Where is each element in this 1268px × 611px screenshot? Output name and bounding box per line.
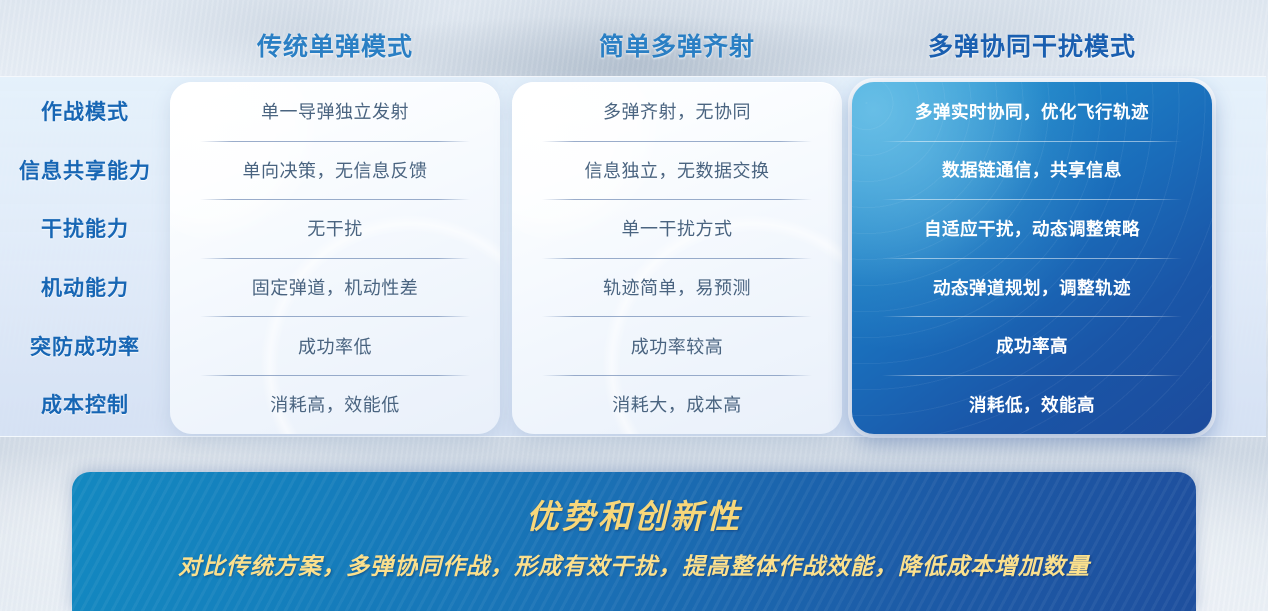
- row-label-info-sharing: 信息共享能力: [0, 141, 170, 200]
- cell-traditional-penetration: 成功率低: [170, 316, 500, 375]
- cell-cooperative-maneuverability: 动态弹道规划，调整轨迹: [852, 258, 1212, 317]
- comparison-card-traditional[interactable]: 单一导弹独立发射 单向决策，无信息反馈 无干扰 固定弹道，机动性差 成功率低 消…: [170, 82, 500, 434]
- cell-traditional-jamming: 无干扰: [170, 199, 500, 258]
- cell-cooperative-cost: 消耗低，效能高: [852, 375, 1212, 434]
- row-label-jamming-capability: 干扰能力: [0, 199, 170, 258]
- cell-traditional-cost: 消耗高，效能低: [170, 375, 500, 434]
- card-cell-list: 多弹实时协同，优化飞行轨迹 数据链通信，共享信息 自适应干扰，动态调整策略 动态…: [852, 82, 1212, 434]
- cell-salvo-jamming: 单一干扰方式: [512, 199, 842, 258]
- column-header-cooperative-jamming: 多弹协同干扰模式: [852, 30, 1212, 64]
- cell-cooperative-jamming: 自适应干扰，动态调整策略: [852, 199, 1212, 258]
- cell-traditional-info-sharing: 单向决策，无信息反馈: [170, 141, 500, 200]
- row-label-penetration-rate: 突防成功率: [0, 316, 170, 375]
- cell-cooperative-info-sharing: 数据链通信，共享信息: [852, 141, 1212, 200]
- comparison-card-simple-salvo[interactable]: 多弹齐射，无协同 信息独立，无数据交换 单一干扰方式 轨迹简单，易预测 成功率较…: [512, 82, 842, 434]
- card-cell-list: 单一导弹独立发射 单向决策，无信息反馈 无干扰 固定弹道，机动性差 成功率低 消…: [170, 82, 500, 434]
- row-label-maneuverability: 机动能力: [0, 258, 170, 317]
- cell-salvo-cost: 消耗大，成本高: [512, 375, 842, 434]
- banner-title: 优势和创新性: [72, 490, 1196, 538]
- cell-cooperative-combat-mode: 多弹实时协同，优化飞行轨迹: [852, 82, 1212, 141]
- cell-salvo-maneuverability: 轨迹简单，易预测: [512, 258, 842, 317]
- cell-salvo-info-sharing: 信息独立，无数据交换: [512, 141, 842, 200]
- card-cell-list: 多弹齐射，无协同 信息独立，无数据交换 单一干扰方式 轨迹简单，易预测 成功率较…: [512, 82, 842, 434]
- cell-salvo-combat-mode: 多弹齐射，无协同: [512, 82, 842, 141]
- comparison-card-cooperative-jamming[interactable]: 多弹实时协同，优化飞行轨迹 数据链通信，共享信息 自适应干扰，动态调整策略 动态…: [852, 82, 1212, 434]
- cell-cooperative-penetration: 成功率高: [852, 316, 1212, 375]
- cell-salvo-penetration: 成功率较高: [512, 316, 842, 375]
- row-label-combat-mode: 作战模式: [0, 82, 170, 141]
- column-header-traditional: 传统单弹模式: [170, 30, 500, 64]
- banner-subtitle: 对比传统方案，多弹协同作战，形成有效干扰，提高整体作战效能，降低成本增加数量: [72, 547, 1196, 581]
- cell-traditional-combat-mode: 单一导弹独立发射: [170, 82, 500, 141]
- advantages-banner: 优势和创新性 对比传统方案，多弹协同作战，形成有效干扰，提高整体作战效能，降低成…: [72, 472, 1196, 611]
- row-label-column: 作战模式 信息共享能力 干扰能力 机动能力 突防成功率 成本控制: [0, 82, 170, 434]
- row-label-cost-control: 成本控制: [0, 375, 170, 434]
- cell-traditional-maneuverability: 固定弹道，机动性差: [170, 258, 500, 317]
- column-header-simple-salvo: 简单多弹齐射: [512, 30, 842, 64]
